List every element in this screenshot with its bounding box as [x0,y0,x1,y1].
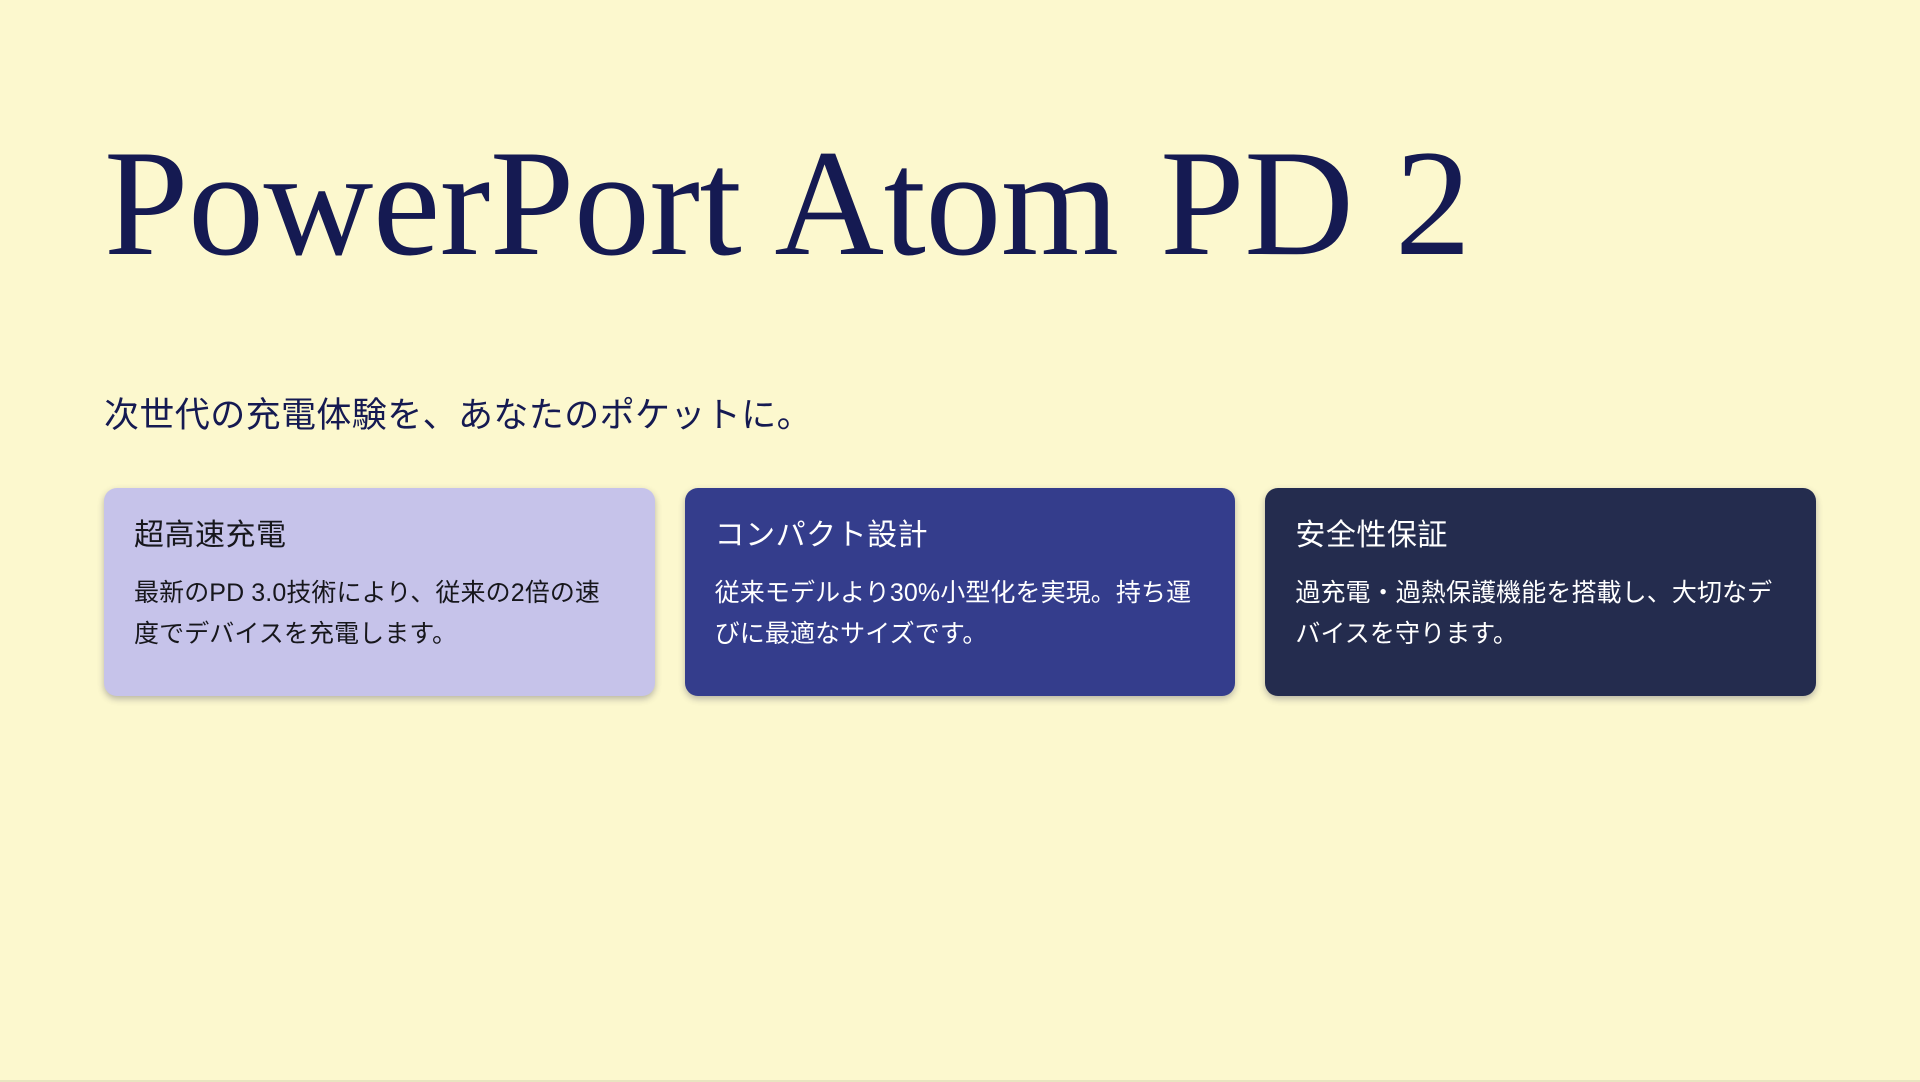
feature-card-1-body: 最新のPD 3.0技術により、従来の2倍の速度でデバイスを充電します。 [134,573,625,654]
feature-card-1[interactable]: 超高速充電 最新のPD 3.0技術により、従来の2倍の速度でデバイスを充電します… [104,488,655,696]
feature-card-2-body: 従来モデルより30%小型化を実現。持ち運びに最適なサイズです。 [715,573,1206,654]
page-title: PowerPort Atom PD 2 [104,0,1744,312]
landing-page: PowerPort Atom PD 2 次世代の充電体験を、あなたのポケットに。… [0,0,1920,1080]
feature-card-3-body: 過充電・過熱保護機能を搭載し、大切なデバイスを守ります。 [1295,573,1786,654]
feature-card-2[interactable]: コンパクト設計 従来モデルより30%小型化を実現。持ち運びに最適なサイズです。 [685,488,1236,696]
hero-subtitle: 次世代の充電体験を、あなたのポケットに。 [104,312,1816,443]
feature-card-2-title: コンパクト設計 [715,516,1206,555]
feature-card-3[interactable]: 安全性保証 過充電・過熱保護機能を搭載し、大切なデバイスを守ります。 [1265,488,1816,696]
feature-card-3-title: 安全性保証 [1295,516,1786,555]
feature-card-1-title: 超高速充電 [134,516,625,555]
feature-card-list: 超高速充電 最新のPD 3.0技術により、従来の2倍の速度でデバイスを充電します… [104,488,1816,696]
